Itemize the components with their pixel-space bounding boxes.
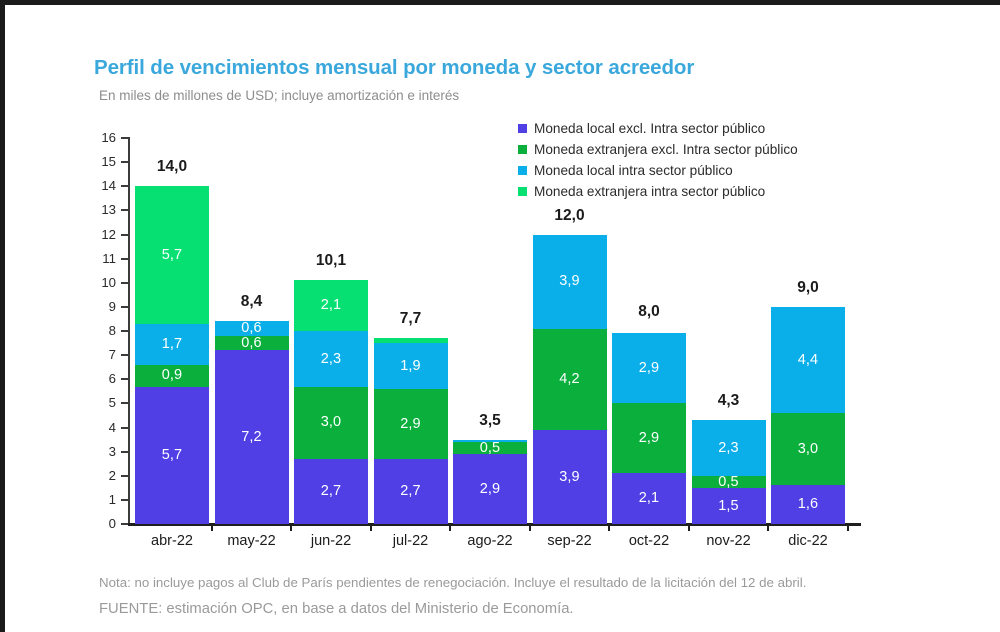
- x-axis-category-label: dic-22: [763, 533, 853, 549]
- bar-total-label: 8,0: [612, 303, 686, 321]
- bar-segment-value: 3,9: [559, 274, 579, 289]
- x-axis-tick: [449, 524, 451, 531]
- bar-segment[interactable]: 3,0: [294, 387, 368, 459]
- bar-segment-value: 2,1: [639, 491, 659, 506]
- x-axis-tick: [847, 524, 849, 531]
- x-axis-tick: [370, 524, 372, 531]
- y-axis-tick: [121, 523, 128, 525]
- bar-segment[interactable]: [453, 440, 527, 442]
- bar-segment[interactable]: 2,1: [294, 280, 368, 331]
- bar-segment[interactable]: 0,5: [692, 476, 766, 488]
- x-axis-tick: [767, 524, 769, 531]
- bar-total-label: 4,3: [692, 392, 766, 410]
- y-axis-tick-value: 15: [86, 154, 116, 169]
- bar-segment[interactable]: 5,7: [135, 186, 209, 324]
- y-axis-tick-value: 13: [86, 202, 116, 217]
- bar-total-label: 10,1: [294, 252, 368, 270]
- bar-stack[interactable]: 1,50,52,3: [692, 420, 766, 524]
- bar-segment-value: 4,4: [798, 353, 818, 368]
- bar-segment-value: 0,6: [241, 336, 261, 351]
- bar-segment-value: 3,9: [559, 470, 579, 485]
- y-axis-tick-value: 4: [86, 420, 116, 435]
- bar-segment[interactable]: 2,9: [374, 389, 448, 459]
- y-axis-tick-value: 3: [86, 444, 116, 459]
- bar-stack[interactable]: 1,63,04,4: [771, 307, 845, 524]
- bar-segment[interactable]: 4,4: [771, 307, 845, 413]
- y-axis-tick: [121, 306, 128, 308]
- bar-segment[interactable]: 3,9: [533, 235, 607, 329]
- bar-segment[interactable]: 4,2: [533, 329, 607, 430]
- y-axis-tick-value: 1: [86, 492, 116, 507]
- x-axis-category-label: may-22: [207, 533, 297, 549]
- bar-segment[interactable]: 2,9: [612, 333, 686, 403]
- bar-segment[interactable]: 2,9: [612, 403, 686, 473]
- y-axis-tick-value: 11: [86, 251, 116, 266]
- bar-segment[interactable]: 5,7: [135, 387, 209, 525]
- bar-stack[interactable]: 2,73,02,32,1: [294, 280, 368, 524]
- x-axis-category-label: abr-22: [127, 533, 217, 549]
- y-axis-tick: [121, 185, 128, 187]
- y-axis-tick-value: 5: [86, 395, 116, 410]
- bar-segment[interactable]: 0,5: [453, 442, 527, 454]
- bar-stack[interactable]: 2,12,92,9: [612, 333, 686, 524]
- bar-segment-value: 5,7: [162, 248, 182, 263]
- y-axis-tick: [121, 378, 128, 380]
- bar-segment[interactable]: 1,6: [771, 485, 845, 524]
- y-axis-tick-value: 7: [86, 347, 116, 362]
- y-axis-tick-value: 10: [86, 275, 116, 290]
- bar-segment-value: 5,7: [162, 448, 182, 463]
- x-axis-category-label: ago-22: [445, 533, 535, 549]
- x-axis-tick: [688, 524, 690, 531]
- x-axis-category-label: sep-22: [525, 533, 615, 549]
- y-axis-tick-value: 16: [86, 130, 116, 145]
- bar-total-label: 14,0: [135, 158, 209, 176]
- bar-segment[interactable]: 2,3: [692, 420, 766, 475]
- y-axis-tick-value: 2: [86, 468, 116, 483]
- bar-segment[interactable]: 1,5: [692, 488, 766, 524]
- bar-segment-value: 1,9: [400, 359, 420, 374]
- y-axis-tick: [121, 402, 128, 404]
- x-axis-category-label: nov-22: [684, 533, 774, 549]
- y-axis-tick: [121, 475, 128, 477]
- x-axis-category-label: oct-22: [604, 533, 694, 549]
- bar-segment[interactable]: 3,0: [771, 413, 845, 485]
- bar-segment[interactable]: 2,9: [453, 454, 527, 524]
- bar-total-label: 9,0: [771, 279, 845, 297]
- y-axis-tick: [121, 330, 128, 332]
- x-axis-category-label: jun-22: [286, 533, 376, 549]
- bar-segment[interactable]: 0,6: [215, 321, 289, 335]
- bar-segment[interactable]: 0,6: [215, 336, 289, 350]
- bar-segment-value: 2,9: [639, 361, 659, 376]
- y-axis-tick-value: 9: [86, 299, 116, 314]
- y-axis-tick: [121, 451, 128, 453]
- y-axis-tick: [121, 354, 128, 356]
- bar-segment[interactable]: 7,2: [215, 350, 289, 524]
- bar-stack[interactable]: 5,70,91,75,7: [135, 186, 209, 524]
- bar-segment-value: 0,6: [241, 321, 261, 336]
- bar-total-label: 7,7: [374, 310, 448, 328]
- bar-segment-value: 2,9: [480, 482, 500, 497]
- y-axis-tick: [121, 427, 128, 429]
- bar-total-label: 3,5: [453, 412, 527, 430]
- x-axis-tick: [211, 524, 213, 531]
- bar-segment[interactable]: 2,7: [294, 459, 368, 524]
- bar-segment[interactable]: 2,3: [294, 331, 368, 386]
- bar-segment-value: 2,9: [639, 431, 659, 446]
- bar-stack[interactable]: 2,90,5: [453, 440, 527, 524]
- y-axis-tick: [121, 209, 128, 211]
- y-axis-tick: [121, 258, 128, 260]
- plot-area: 0123456789101112131415165,70,91,75,714,0…: [0, 0, 995, 627]
- y-axis-tick: [121, 234, 128, 236]
- bar-segment-value: 2,3: [321, 352, 341, 367]
- bar-segment-value: 0,5: [480, 441, 500, 456]
- bar-segment-value: 1,5: [718, 499, 738, 514]
- y-axis-tick-value: 12: [86, 227, 116, 242]
- x-axis-tick: [608, 524, 610, 531]
- bar-segment-value: 2,7: [321, 484, 341, 499]
- y-axis-line: [128, 137, 130, 525]
- footnote-source: FUENTE: estimación OPC, en base a datos …: [99, 601, 574, 617]
- bar-segment[interactable]: 2,1: [612, 473, 686, 524]
- x-axis-tick: [290, 524, 292, 531]
- y-axis-tick: [121, 161, 128, 163]
- bar-segment[interactable]: 2,7: [374, 459, 448, 524]
- bar-stack[interactable]: 2,72,91,9: [374, 338, 448, 524]
- bar-segment[interactable]: [374, 338, 448, 343]
- y-axis-tick-value: 6: [86, 371, 116, 386]
- bar-segment-value: 2,1: [321, 298, 341, 313]
- bar-total-label: 12,0: [533, 207, 607, 225]
- bar-segment-value: 3,0: [321, 415, 341, 430]
- bar-segment-value: 1,7: [162, 337, 182, 352]
- x-axis-tick: [529, 524, 531, 531]
- y-axis-tick-value: 14: [86, 178, 116, 193]
- bar-segment[interactable]: 0,9: [135, 365, 209, 387]
- x-axis-category-label: jul-22: [366, 533, 456, 549]
- bar-segment[interactable]: 1,9: [374, 343, 448, 389]
- bar-segment-value: 0,9: [162, 368, 182, 383]
- y-axis-tick: [121, 499, 128, 501]
- bar-segment-value: 2,3: [718, 441, 738, 456]
- bar-segment-value: 2,7: [400, 484, 420, 499]
- bar-segment[interactable]: 3,9: [533, 430, 607, 524]
- bar-total-label: 8,4: [215, 293, 289, 311]
- bar-segment[interactable]: 1,7: [135, 324, 209, 365]
- bar-segment-value: 3,0: [798, 442, 818, 457]
- footnote-note: Nota: no incluye pagos al Club de París …: [99, 575, 806, 590]
- y-axis-tick: [121, 137, 128, 139]
- y-axis-tick: [121, 282, 128, 284]
- bar-segment-value: 1,6: [798, 497, 818, 512]
- bar-stack[interactable]: 7,20,60,6: [215, 321, 289, 524]
- bar-segment-value: 0,5: [718, 475, 738, 490]
- y-axis-tick-value: 0: [86, 516, 116, 531]
- bar-segment-value: 7,2: [241, 430, 261, 445]
- bar-segment-value: 2,9: [400, 417, 420, 432]
- bar-stack[interactable]: 3,94,23,9: [533, 235, 607, 524]
- y-axis-tick-value: 8: [86, 323, 116, 338]
- bar-segment-value: 4,2: [559, 372, 579, 387]
